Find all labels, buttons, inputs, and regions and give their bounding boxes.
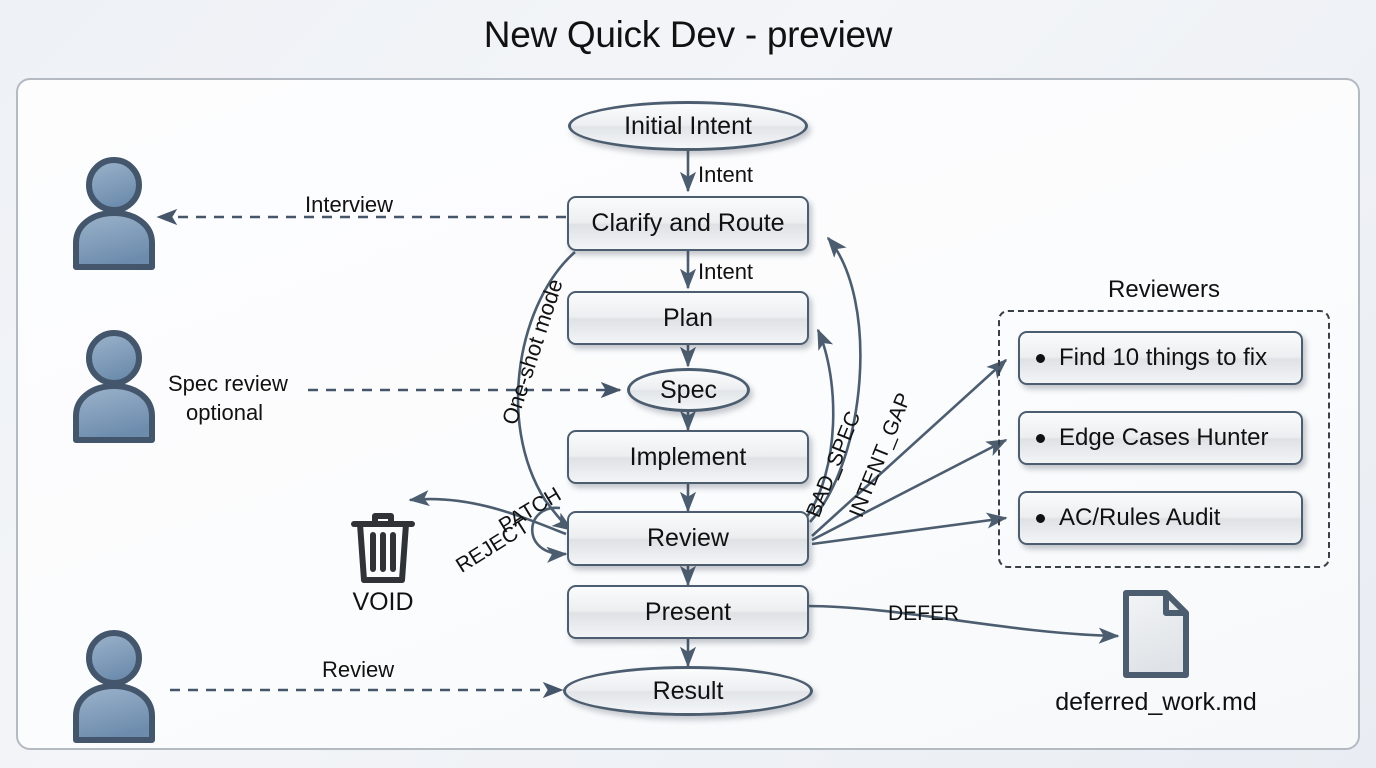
node-spec-label: Spec: [660, 376, 717, 405]
edge-label-review-out: Review: [322, 657, 394, 683]
node-clarify-and-route-label: Clarify and Route: [591, 209, 784, 238]
edge-label-spec-review-optional: optional: [186, 400, 263, 426]
edge-label-defer: DEFER: [888, 602, 959, 626]
node-plan-label: Plan: [663, 304, 713, 333]
node-present[interactable]: Present: [567, 585, 809, 639]
bullet-icon: [1036, 514, 1045, 523]
void-label: VOID: [328, 588, 438, 617]
node-clarify-and-route[interactable]: Clarify and Route: [567, 196, 809, 251]
node-implement[interactable]: Implement: [567, 430, 809, 484]
reviewer-label: Edge Cases Hunter: [1059, 424, 1268, 452]
edge-label-spec-review: Spec review: [168, 371, 288, 397]
node-initial-intent-label: Initial Intent: [624, 112, 752, 141]
node-initial-intent[interactable]: Initial Intent: [568, 101, 808, 151]
diagram-canvas: New Quick Dev - preview: [0, 0, 1376, 768]
reviewers-title: Reviewers: [998, 276, 1330, 304]
actor-user-review[interactable]: [68, 628, 160, 744]
bullet-icon: [1036, 434, 1045, 443]
node-plan[interactable]: Plan: [567, 291, 809, 345]
reviewer-find-10-things-to-fix[interactable]: Find 10 things to fix: [1018, 331, 1303, 385]
deferred-file-label: deferred_work.md: [1024, 688, 1288, 717]
reviewer-ac-rules-audit[interactable]: AC/Rules Audit: [1018, 491, 1303, 545]
node-spec[interactable]: Spec: [627, 368, 750, 412]
page-title: New Quick Dev - preview: [0, 14, 1376, 56]
node-review[interactable]: Review: [567, 511, 809, 566]
node-review-label: Review: [647, 524, 729, 553]
bullet-icon: [1036, 354, 1045, 363]
actor-user-interview[interactable]: [68, 155, 160, 271]
edge-label-intent-1: Intent: [698, 162, 753, 188]
node-result-label: Result: [653, 677, 724, 706]
trash-icon: [348, 506, 418, 591]
edge-label-interview: Interview: [305, 192, 393, 218]
reviewer-label: AC/Rules Audit: [1059, 504, 1220, 532]
node-present-label: Present: [645, 598, 731, 627]
document-icon: [1120, 588, 1192, 685]
reviewer-edge-cases-hunter[interactable]: Edge Cases Hunter: [1018, 411, 1303, 465]
node-implement-label: Implement: [630, 443, 747, 472]
node-result[interactable]: Result: [563, 666, 813, 716]
edge-label-intent-2: Intent: [698, 259, 753, 285]
actor-user-spec-review[interactable]: [68, 328, 160, 444]
reviewer-label: Find 10 things to fix: [1059, 344, 1267, 372]
